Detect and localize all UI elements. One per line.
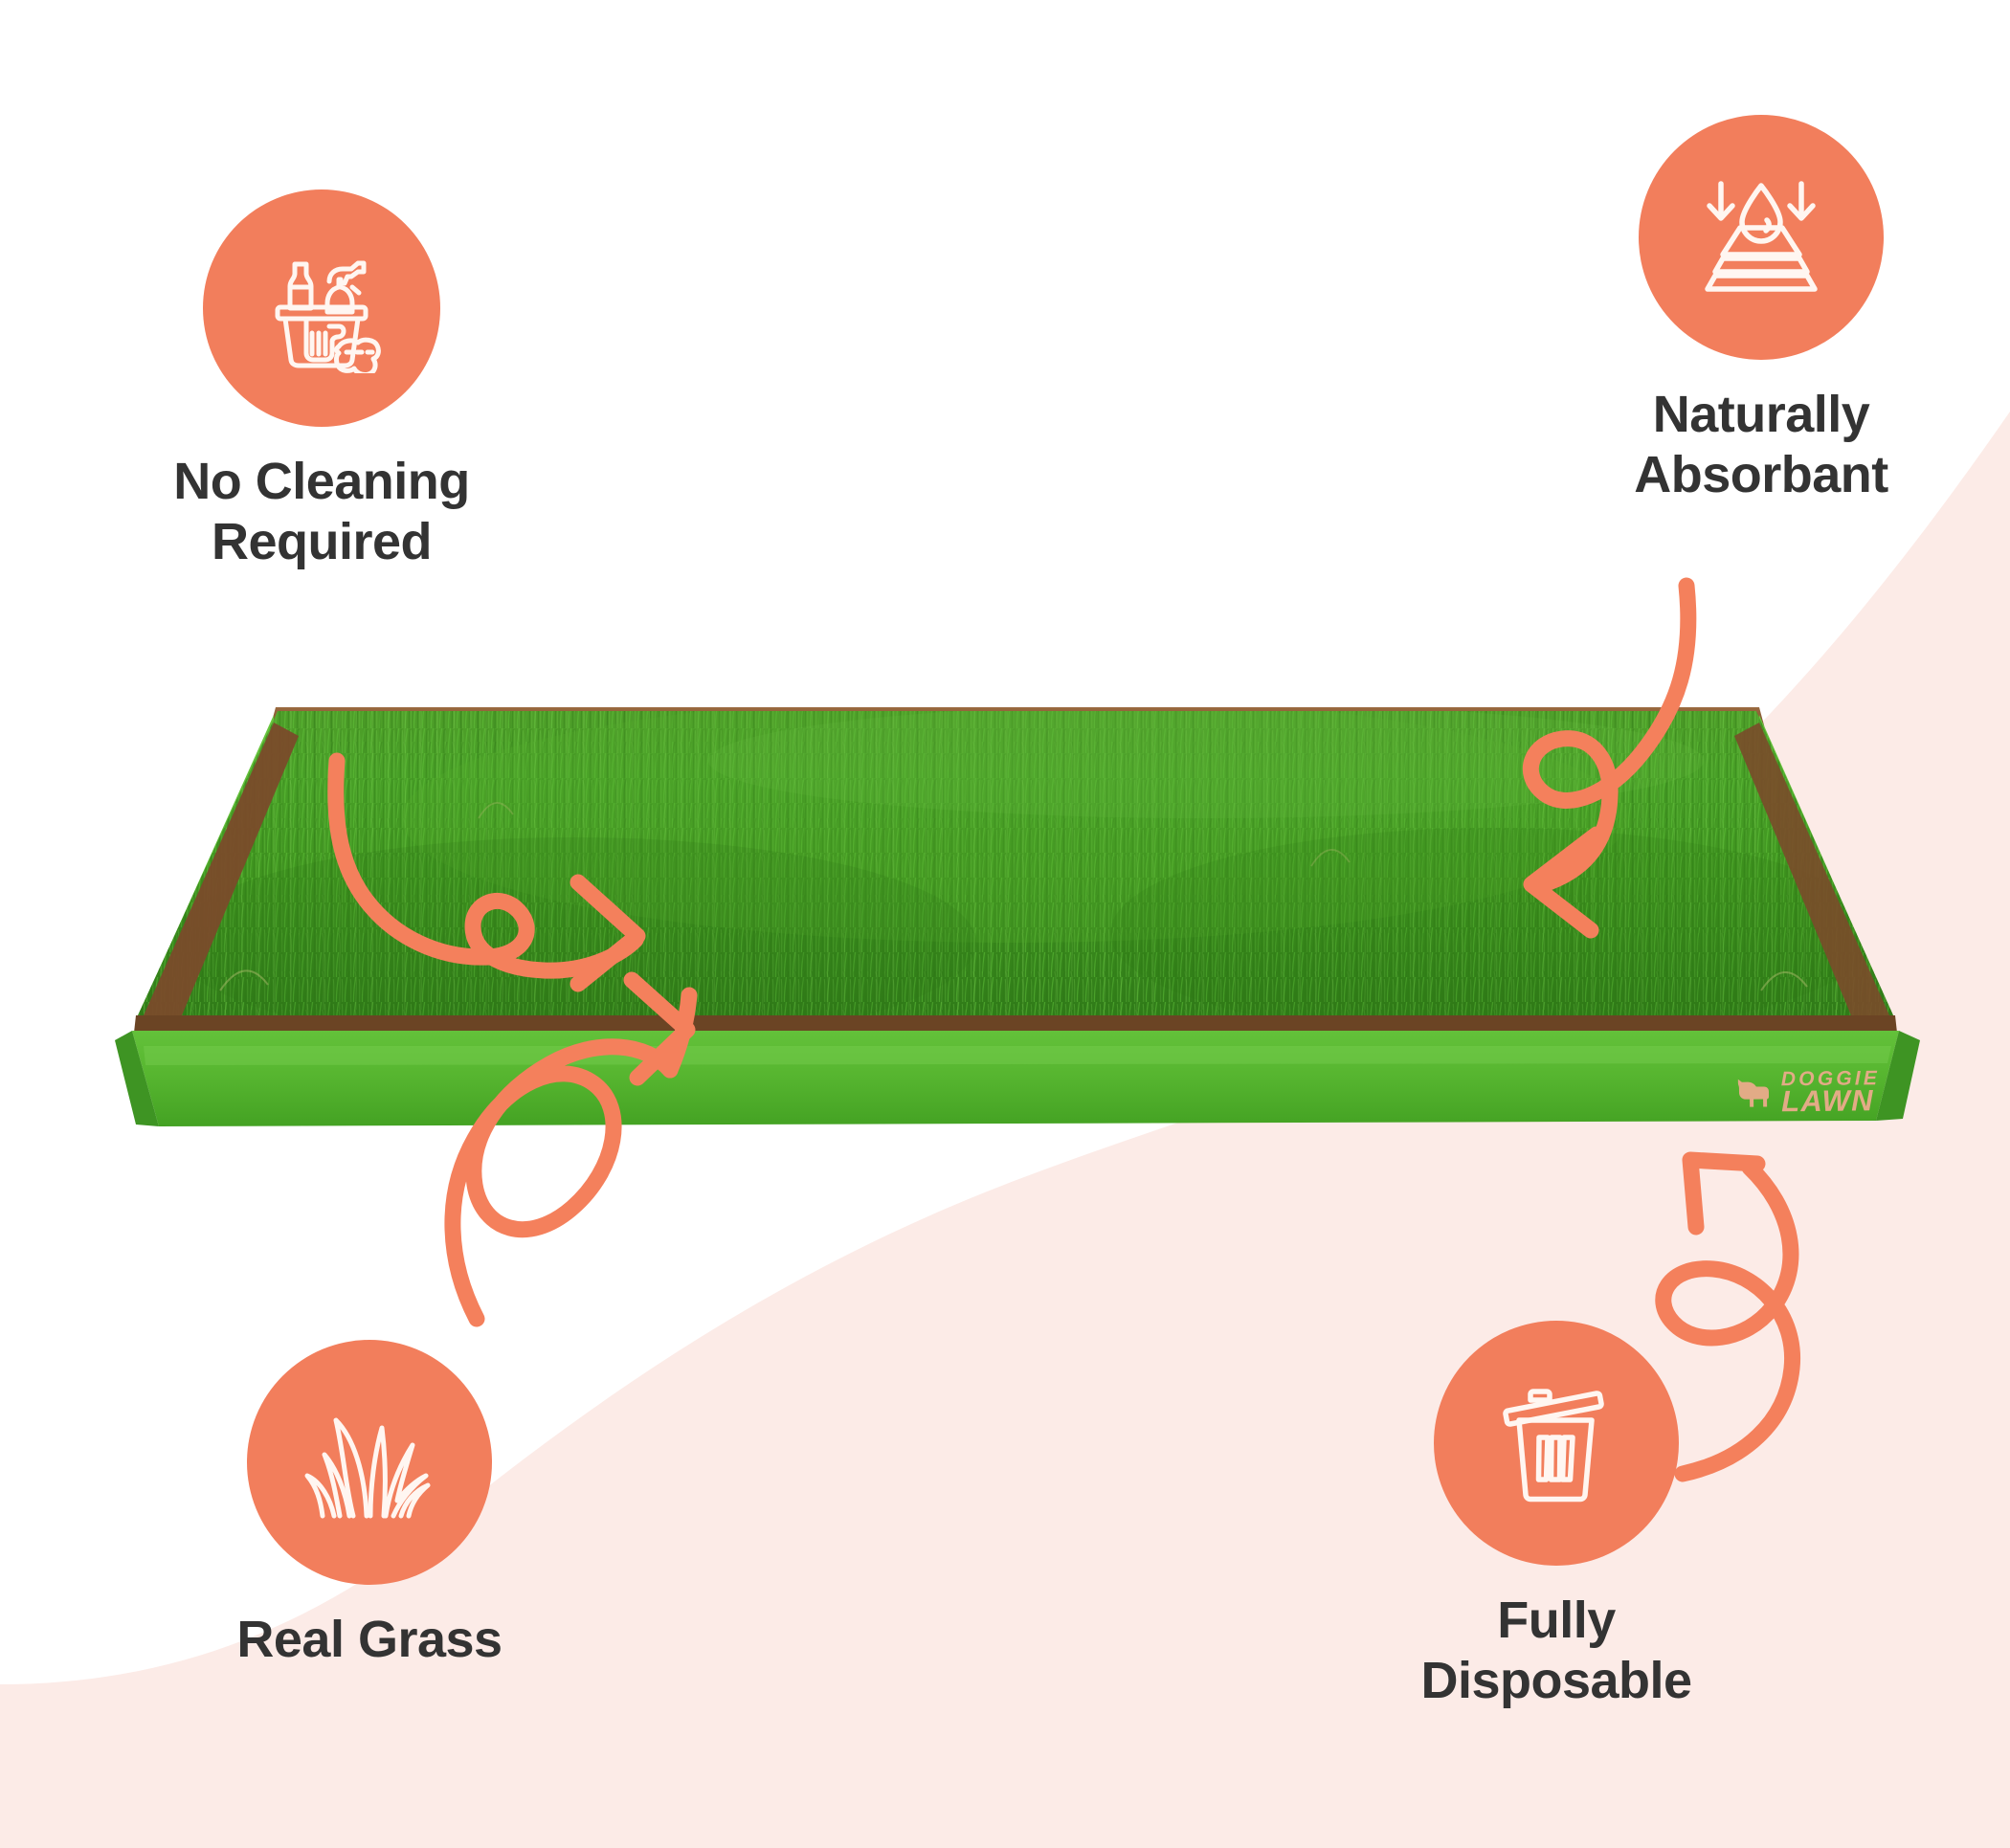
trash-can-icon — [1493, 1378, 1619, 1508]
feature-label-absorbant: Naturally Absorbant — [1531, 385, 1991, 505]
arrow-no-cleaning-icon — [336, 761, 637, 984]
feature-no-cleaning-required[interactable]: No Cleaning Required — [92, 189, 551, 572]
feature-real-grass[interactable]: Real Grass — [140, 1340, 599, 1670]
feature-label-disposable: Fully Disposable — [1327, 1591, 1786, 1711]
grass-blades-icon — [298, 1399, 441, 1525]
feature-badge-no-cleaning — [203, 189, 440, 427]
absorbent-layers-icon — [1692, 170, 1830, 304]
brand-line-2: LAWN — [1781, 1088, 1881, 1117]
arrow-real-grass-icon — [453, 980, 689, 1319]
feature-fully-disposable[interactable]: Fully Disposable — [1327, 1321, 1786, 1711]
feature-naturally-absorbant[interactable]: Naturally Absorbant — [1531, 115, 1991, 505]
feature-label-real-grass: Real Grass — [140, 1610, 599, 1670]
feature-badge-disposable — [1434, 1321, 1679, 1566]
infographic-canvas: DOGGIE LAWN — [0, 0, 2010, 1848]
dog-silhouette-icon — [1734, 1077, 1773, 1109]
cleaning-supplies-icon — [257, 243, 387, 373]
arrow-absorbant-icon — [1530, 586, 1688, 930]
feature-badge-real-grass — [247, 1340, 492, 1585]
feature-badge-absorbant — [1639, 115, 1884, 360]
product-image-grass-tray — [77, 703, 1953, 1144]
feature-label-no-cleaning: No Cleaning Required — [92, 452, 551, 572]
brand-logo: DOGGIE LAWN — [1734, 1069, 1881, 1116]
